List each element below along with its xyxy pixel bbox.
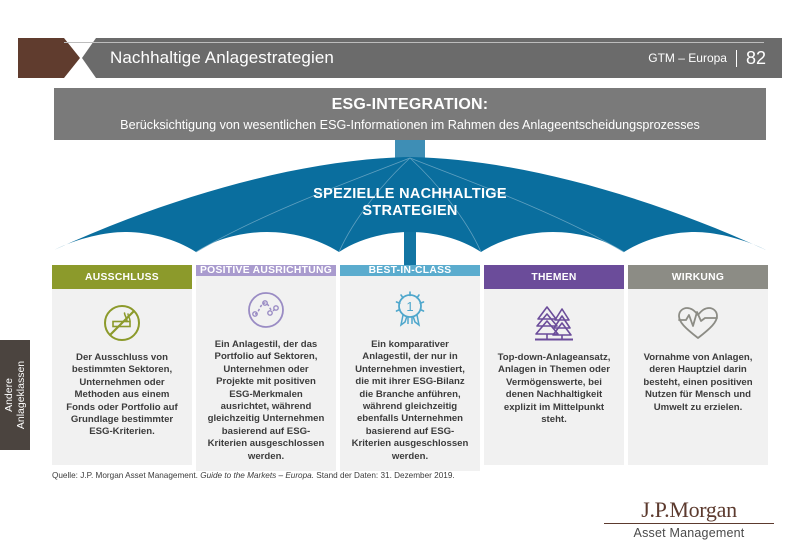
- header-divider: [736, 50, 737, 67]
- header-underline: [64, 42, 764, 43]
- header-page-number: 82: [746, 48, 766, 69]
- page-title: Nachhaltige Anlagestrategien: [110, 38, 334, 78]
- award-ribbon-icon: 1: [389, 288, 431, 332]
- strategy-columns: AUSSCHLUSS Der Ausschluss von bestimmten…: [52, 265, 768, 465]
- column-text-wirkung: Vornahme von Anlagen, deren Hauptziel da…: [636, 352, 760, 414]
- page-header: Nachhaltige Anlagestrategien GTM – Europ…: [18, 38, 782, 78]
- strategy-column-best-in-class[interactable]: BEST-IN-CLASS: [340, 265, 480, 465]
- source-suffix: Stand der Daten: 31. Dezember 2019.: [316, 471, 454, 480]
- strategy-column-wirkung[interactable]: WIRKUNG Vornahme von Anlagen, deren Haup…: [628, 265, 768, 465]
- strategy-column-positive-ausrichtung[interactable]: POSITIVE AUSRICHTUNG Ein Anlagestil, der…: [196, 265, 336, 465]
- sidebar-tab-label-line1: Andere: [3, 378, 15, 412]
- sidebar-tab-andere-anlageklassen[interactable]: Andere Anlageklassen: [0, 340, 30, 450]
- umbrella-label-line1: SPEZIELLE NACHHALTIGE: [313, 186, 507, 202]
- header-accent-shape: [18, 38, 80, 78]
- column-text-positive-ausrichtung: Ein Anlagestil, der das Portfolio auf Se…: [204, 339, 328, 463]
- source-publication: Guide to the Markets – Europa.: [200, 471, 314, 480]
- column-text-themen: Top-down-Anlageansatz, Anlagen in Themen…: [492, 352, 616, 426]
- column-body-ausschluss: Der Ausschluss von bestimmten Sektoren, …: [52, 289, 192, 465]
- column-header-themen: THEMEN: [484, 265, 624, 289]
- source-prefix: Quelle: J.P. Morgan Asset Management.: [52, 471, 198, 480]
- esg-banner-subtitle: Berücksichtigung von wesentlichen ESG-In…: [120, 118, 700, 132]
- logo-rule: [604, 523, 774, 524]
- sidebar-tab-label: Andere Anlageklassen: [3, 361, 27, 429]
- sidebar-tab-label-line2: Anlageklassen: [15, 361, 27, 429]
- esg-banner-title: ESG-INTEGRATION:: [332, 96, 489, 114]
- heart-pulse-icon: [675, 301, 721, 345]
- network-chart-icon: [245, 288, 287, 332]
- umbrella-label-line2: STRATEGIEN: [362, 203, 457, 219]
- column-body-themen: Top-down-Anlageansatz, Anlagen in Themen…: [484, 289, 624, 465]
- pine-trees-icon: [531, 301, 577, 345]
- column-header-ausschluss: AUSSCHLUSS: [52, 265, 192, 289]
- header-meta: GTM – Europa 82: [648, 38, 766, 78]
- column-text-best-in-class: Ein komparativer Anlagestil, der nur in …: [348, 339, 472, 463]
- esg-integration-banner: ESG-INTEGRATION: Berücksichtigung von we…: [54, 88, 766, 140]
- umbrella-pole: [404, 232, 416, 268]
- strategy-column-themen[interactable]: THEMEN Top-down-An: [484, 265, 624, 465]
- column-header-wirkung: WIRKUNG: [628, 265, 768, 289]
- no-smoking-icon: [101, 301, 143, 345]
- strategy-column-ausschluss[interactable]: AUSSCHLUSS Der Ausschluss von bestimmten…: [52, 265, 192, 465]
- column-header-positive-ausrichtung: POSITIVE AUSRICHTUNG: [196, 265, 336, 276]
- jpmorgan-logo: J.P.Morgan Asset Management: [604, 498, 774, 540]
- logo-wordmark: J.P.Morgan: [604, 498, 774, 522]
- logo-subtitle: Asset Management: [604, 526, 774, 540]
- source-note: Quelle: J.P. Morgan Asset Management. Gu…: [52, 470, 752, 481]
- umbrella-graphic: SPEZIELLE NACHHALTIGE STRATEGIEN: [54, 140, 766, 268]
- column-body-positive-ausrichtung: Ein Anlagestil, der das Portfolio auf Se…: [196, 276, 336, 471]
- column-body-wirkung: Vornahme von Anlagen, deren Hauptziel da…: [628, 289, 768, 465]
- svg-text:1: 1: [406, 299, 413, 314]
- header-region-label: GTM – Europa: [648, 51, 727, 65]
- column-header-best-in-class: BEST-IN-CLASS: [340, 265, 480, 276]
- column-body-best-in-class: 1 Ein komparativer Anlagestil, der nur i…: [340, 276, 480, 471]
- umbrella-label: SPEZIELLE NACHHALTIGE STRATEGIEN: [54, 186, 766, 220]
- column-text-ausschluss: Der Ausschluss von bestimmten Sektoren, …: [60, 352, 184, 439]
